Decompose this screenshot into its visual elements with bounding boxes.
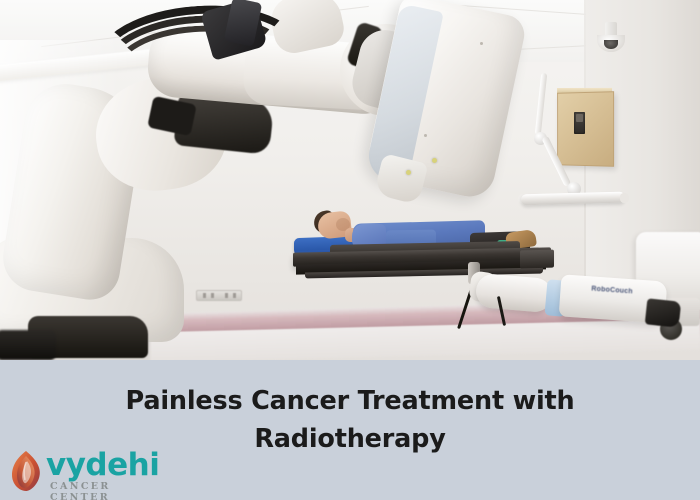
linac-screw xyxy=(424,134,427,137)
lamp-end-cap xyxy=(620,193,629,203)
treatment-couch-end xyxy=(520,250,554,269)
robot-foot xyxy=(0,330,56,360)
caption-panel: Painless Cancer Treatment with Radiother… xyxy=(0,360,700,500)
vydehi-logo[interactable]: vydehi CANCER CENTER xyxy=(4,448,154,496)
wood-wall-panel xyxy=(557,91,614,167)
flame-leaf-icon xyxy=(6,449,46,493)
robocouch-foot xyxy=(645,298,682,327)
logo-tagline: CANCER CENTER xyxy=(50,481,154,500)
logo-wordmark: vydehi xyxy=(46,448,159,482)
robocouch-link xyxy=(475,273,554,313)
linac-indicator-dot xyxy=(406,170,411,175)
treatment-room-photo: RoboCouch xyxy=(0,0,700,360)
title-line-1: Painless Cancer Treatment with xyxy=(126,386,575,416)
wall-switch-face xyxy=(576,114,583,122)
page-root: RoboCouch Painless Cancer Treatment with… xyxy=(0,0,700,500)
linac-screw xyxy=(480,42,483,45)
wall-outlet-icon xyxy=(196,290,242,301)
linac-indicator-dot xyxy=(432,158,437,163)
